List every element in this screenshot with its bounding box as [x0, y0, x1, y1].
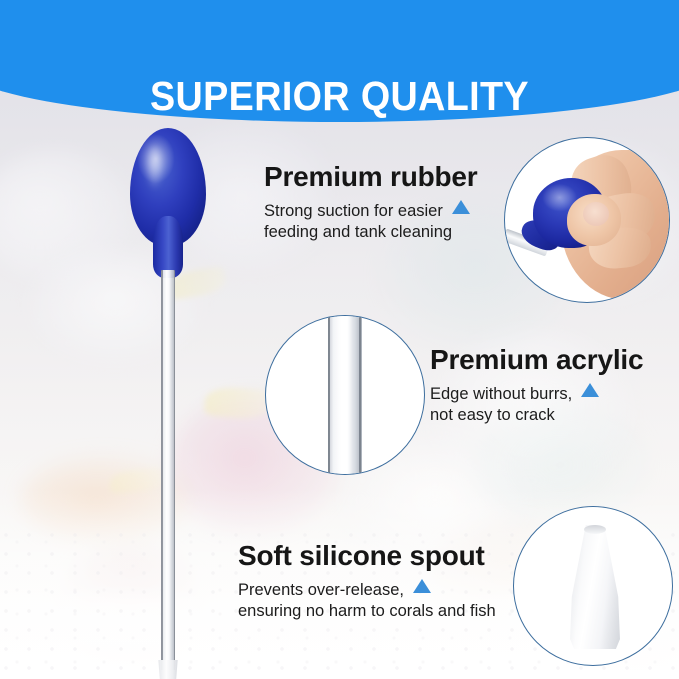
feature-heading-premium-rubber: Premium rubber [264, 162, 477, 193]
feature-body-line: ensuring no harm to corals and fish [238, 601, 496, 622]
bulb-highlight [145, 146, 164, 190]
silicone-spout-tip [157, 660, 179, 679]
feature-body-text: Strong suction for easier [264, 202, 443, 220]
feature-block-premium-rubber: Premium rubber Strong suction for easier… [264, 162, 477, 242]
acrylic-tube-zoom-edge-left [328, 315, 330, 475]
feature-body-premium-rubber: Strong suction for easier feeding and ta… [264, 200, 477, 243]
product-infographic-poster: SUPERIOR QUALITY Premium rubber [0, 0, 679, 679]
feature-block-premium-acrylic: Premium acrylic Edge without burrs, not … [430, 345, 643, 425]
silicone-spout-zoom-lip [584, 525, 606, 534]
triangle-up-icon [581, 383, 599, 397]
acrylic-tube-edge-left [161, 270, 163, 670]
thumb-nail-icon [583, 202, 609, 226]
product-dropper [112, 128, 222, 648]
triangle-up-icon [452, 200, 470, 214]
triangle-up-icon [413, 579, 431, 593]
feature-body-line: not easy to crack [430, 405, 643, 426]
callout-circle-premium-rubber [504, 137, 670, 303]
feature-heading-premium-acrylic: Premium acrylic [430, 345, 643, 376]
acrylic-tube-zoom-highlight [341, 315, 349, 475]
feature-block-soft-silicone-spout: Soft silicone spout Prevents over-releas… [238, 541, 496, 621]
callout-circle-premium-acrylic [265, 315, 425, 475]
acrylic-tube-edge-right [174, 270, 176, 670]
feature-body-line: Strong suction for easier [264, 200, 477, 222]
feature-body-premium-acrylic: Edge without burrs, not easy to crack [430, 383, 643, 426]
feature-body-text: Prevents over-release, [238, 581, 404, 599]
feature-body-soft-silicone-spout: Prevents over-release, ensuring no harm … [238, 579, 496, 622]
feature-body-line: Edge without burrs, [430, 383, 643, 405]
feature-heading-soft-silicone-spout: Soft silicone spout [238, 541, 496, 572]
page-title: SUPERIOR QUALITY [27, 73, 652, 120]
feature-body-line: Prevents over-release, [238, 579, 496, 601]
silicone-spout-zoom-shading [566, 525, 624, 649]
callout-circle-soft-silicone-spout [513, 506, 673, 666]
acrylic-tube-zoom-edge-right [359, 315, 361, 475]
rubber-bulb-neck [153, 216, 183, 278]
feature-body-text: Edge without burrs, [430, 385, 572, 403]
feature-body-line: feeding and tank cleaning [264, 222, 477, 243]
